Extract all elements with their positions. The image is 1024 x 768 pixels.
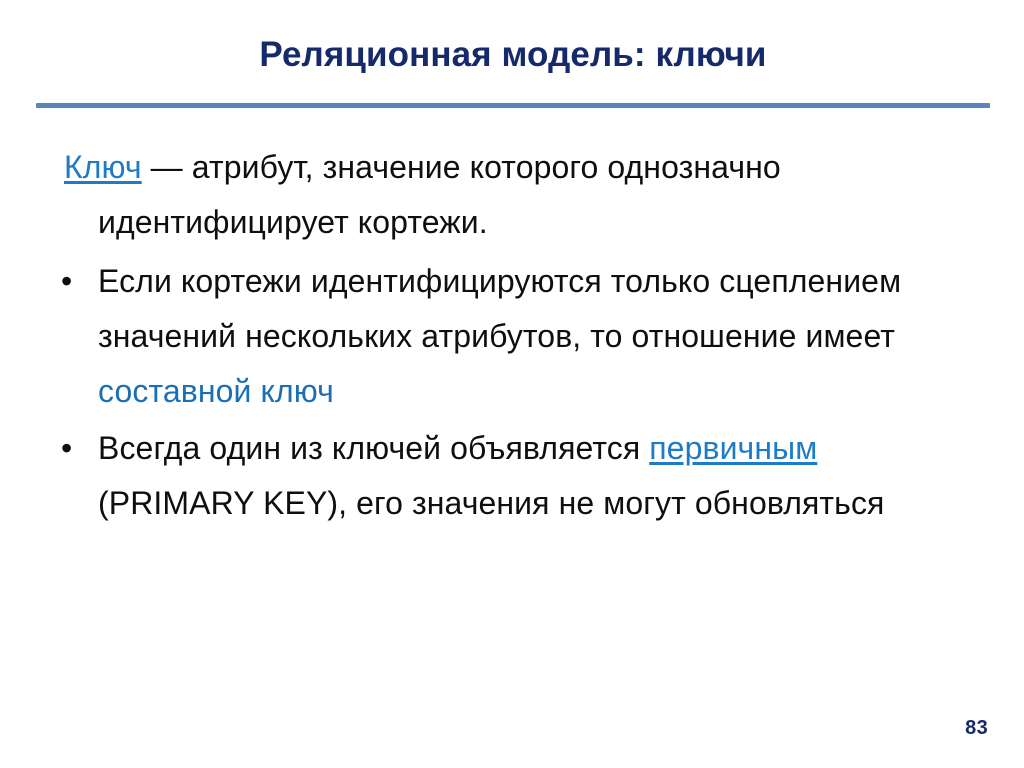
definition-text: — атрибут, значение которого однозначно … [98, 149, 781, 240]
body-content: Ключ — атрибут, значение которого однозн… [56, 140, 962, 533]
list-item: •Всегда один из ключей объявляется перви… [56, 421, 962, 531]
bullet-icon: • [61, 254, 72, 309]
primary-key-link[interactable]: первичным [649, 430, 817, 466]
bullet-icon: • [61, 421, 72, 476]
key-term-link[interactable]: Ключ [64, 149, 142, 185]
title-divider [36, 103, 990, 108]
definition-paragraph: Ключ — атрибут, значение которого однозн… [56, 140, 962, 250]
page-title: Реляционная модель: ключи [259, 36, 766, 75]
bullet-1-text-before: Если кортежи идентифицируются только сце… [98, 263, 901, 354]
slide: Реляционная модель: ключи Ключ — атрибут… [0, 0, 1024, 768]
bullet-2-text-after: (PRIMARY KEY), его значения не могут обн… [98, 485, 884, 521]
list-item: •Если кортежи идентифицируются только сц… [56, 254, 962, 419]
composite-key-highlight: составной ключ [98, 373, 334, 409]
bullet-2-text-before: Всегда один из ключей объявляется [98, 430, 649, 466]
page-number: 83 [965, 717, 988, 740]
title-area: Реляционная модель: ключи [36, 24, 990, 86]
